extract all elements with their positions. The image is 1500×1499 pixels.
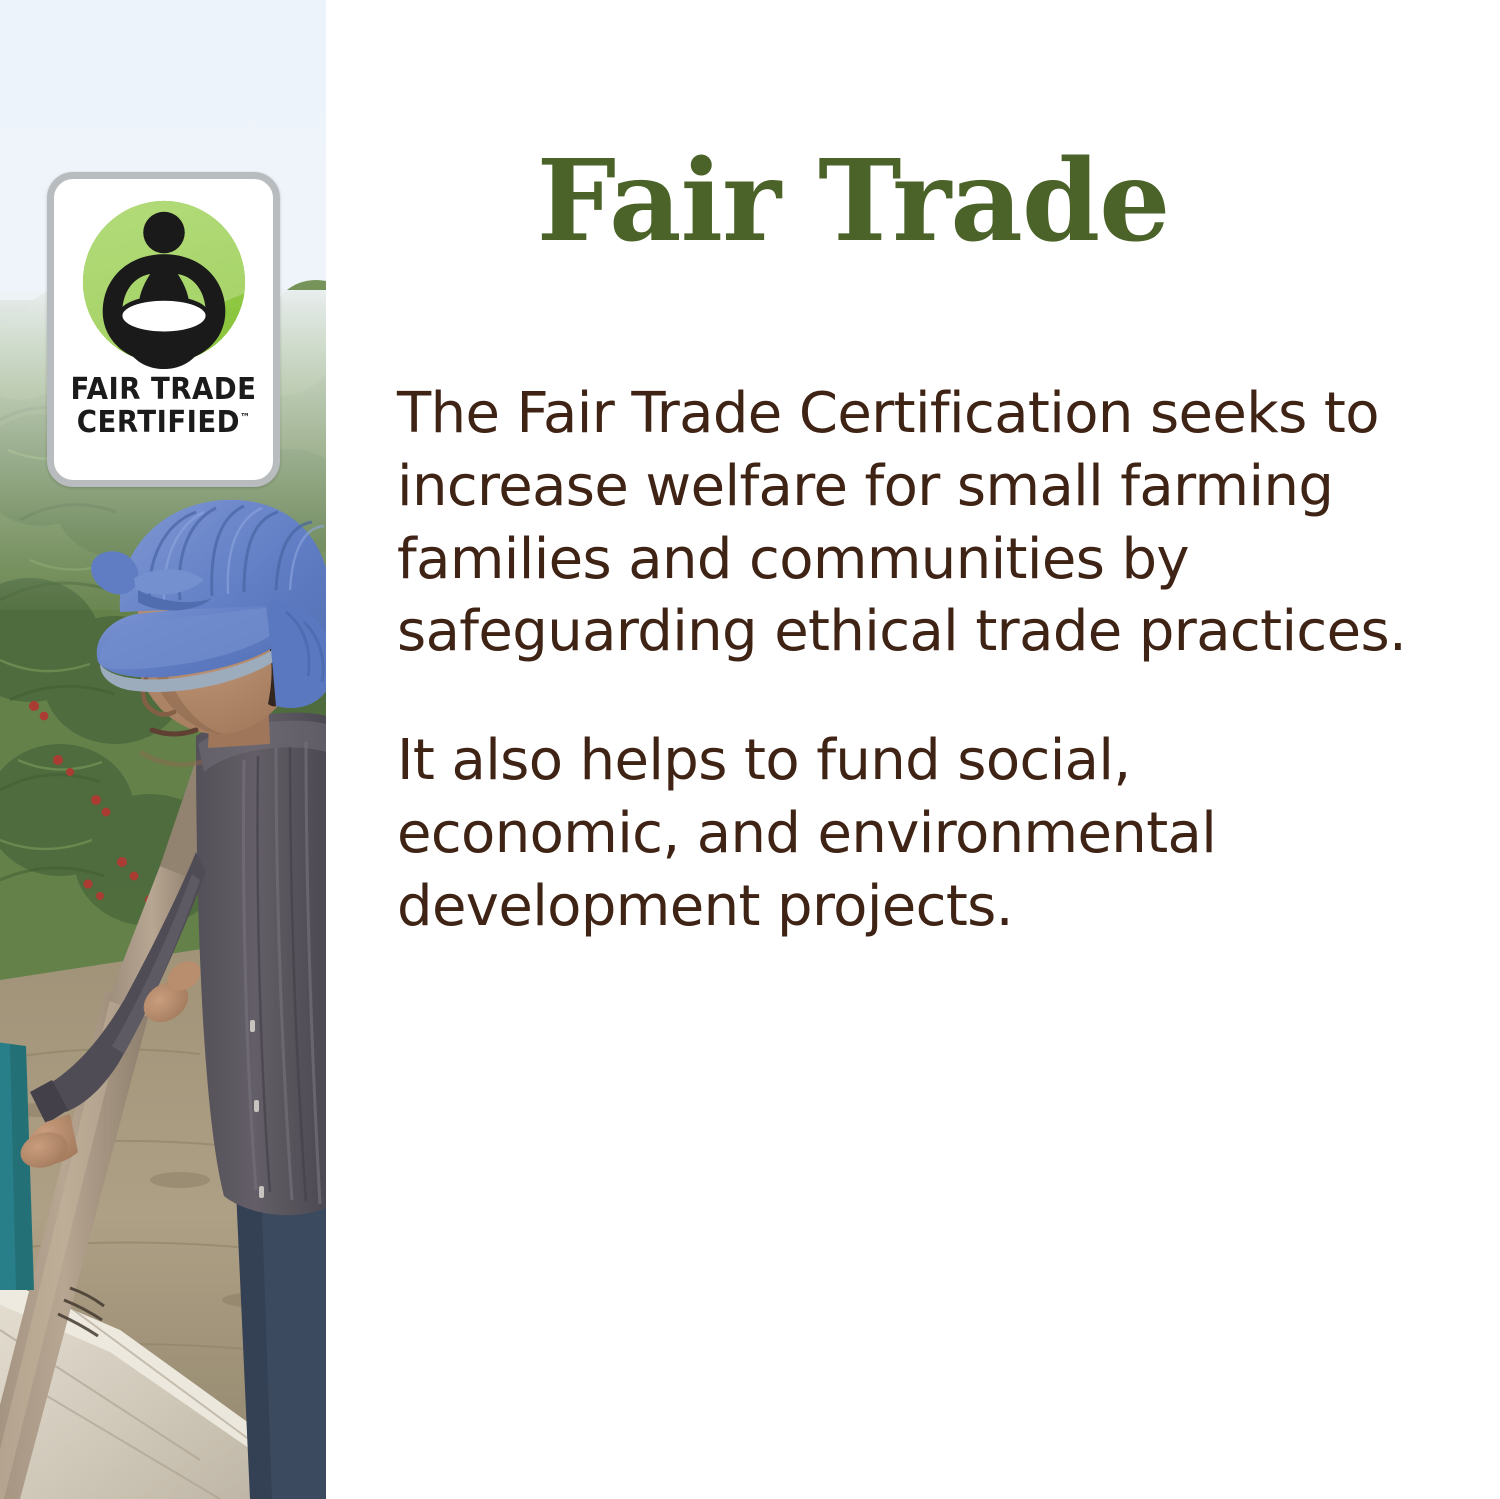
badge-text-group: FAIR TRADE CERTIFIED™ <box>54 375 273 438</box>
content-panel: Fair Trade The Fair Trade Certification … <box>326 0 1500 1499</box>
body-copy: The Fair Trade Certification seeks to in… <box>397 378 1427 944</box>
badge-line-fair-trade: FAIR TRADE <box>63 375 264 406</box>
trademark-symbol: ™ <box>240 411 250 424</box>
paragraph-1: The Fair Trade Certification seeks to in… <box>397 378 1427 669</box>
paragraph-2: It also helps to fund social, economic, … <box>397 725 1427 943</box>
page-title: Fair Trade <box>326 146 1500 258</box>
badge-line-certified: CERTIFIED™ <box>63 408 264 439</box>
badge-certified-word: CERTIFIED <box>77 405 240 440</box>
fair-trade-certified-badge: FAIR TRADE CERTIFIED™ <box>47 172 280 487</box>
fair-trade-logo-icon <box>75 193 253 371</box>
